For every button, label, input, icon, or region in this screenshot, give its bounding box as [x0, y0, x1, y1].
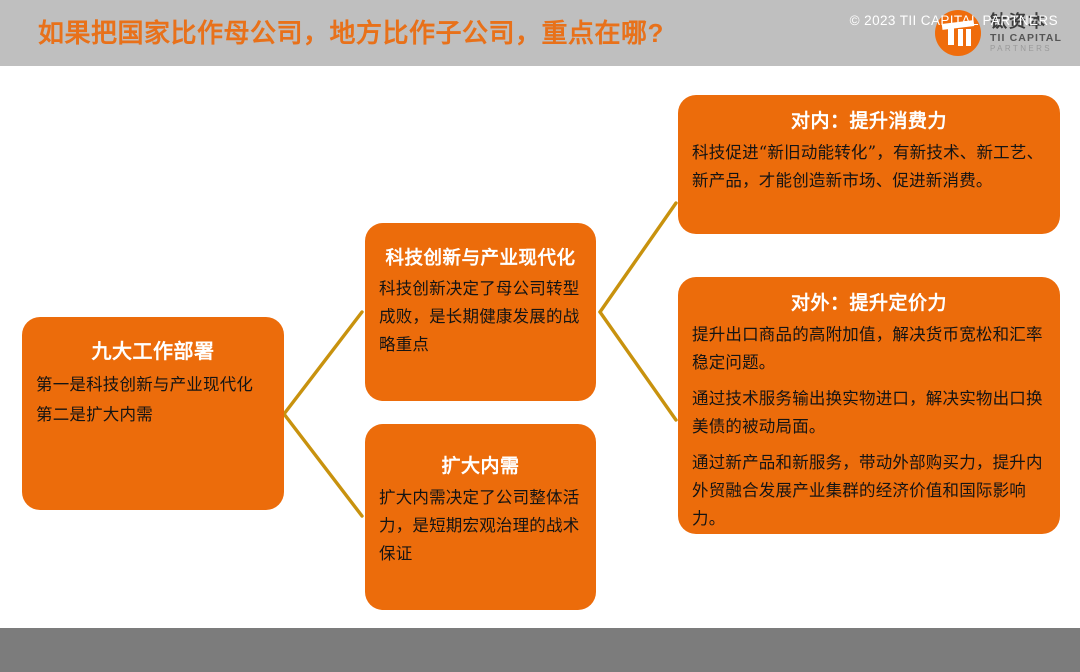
- node-internal-consumption-body: 科技促进“新旧动能转化”，有新技术、新工艺、新产品，才能创造新市场、促进新消费。: [692, 139, 1046, 195]
- node-internal-consumption-title: 对内：提升消费力: [692, 109, 1046, 135]
- node-expand-demand[interactable]: 扩大内需 扩大内需决定了公司整体活力，是短期宏观治理的战术保证: [365, 424, 596, 610]
- node-text-line: 科技创新决定了母公司转型成败，是长期健康发展的战略重点: [379, 275, 582, 359]
- node-text-line: 第二是扩大内需: [36, 401, 270, 429]
- node-text-line: 科技促进“新旧动能转化”，有新技术、新工艺、新产品，才能创造新市场、促进新消费。: [692, 139, 1046, 195]
- node-text-line: 提升出口商品的高附加值，解决货币宽松和汇率稳定问题。: [692, 321, 1046, 377]
- page-title: 如果把国家比作母公司，地方比作子公司，重点在哪?: [38, 12, 878, 54]
- edge-tech-innovation-to-external: [600, 312, 676, 420]
- node-tech-innovation[interactable]: 科技创新与产业现代化 科技创新决定了母公司转型成败，是长期健康发展的战略重点: [365, 223, 596, 401]
- node-external-pricing-body: 提升出口商品的高附加值，解决货币宽松和汇率稳定问题。 通过技术服务输出换实物进口…: [692, 321, 1046, 533]
- node-internal-consumption[interactable]: 对内：提升消费力 科技促进“新旧动能转化”，有新技术、新工艺、新产品，才能创造新…: [678, 95, 1060, 234]
- node-expand-demand-body: 扩大内需决定了公司整体活力，是短期宏观治理的战术保证: [379, 484, 582, 568]
- footer-bar: [0, 628, 1080, 672]
- node-nine-tasks[interactable]: 九大工作部署 第一是科技创新与产业现代化 第二是扩大内需: [22, 317, 284, 510]
- node-text-line: 通过新产品和新服务，带动外部购买力，提升内外贸融合发展产业集群的经济价值和国际影…: [692, 449, 1046, 533]
- brand-name-en: TII CAPITAL: [990, 33, 1062, 44]
- node-text-line: 通过技术服务输出换实物进口，解决实物出口换美债的被动局面。: [692, 385, 1046, 441]
- node-nine-tasks-body: 第一是科技创新与产业现代化 第二是扩大内需: [36, 371, 270, 429]
- copyright-text: © 2023 TII CAPITAL PARTNERS: [850, 13, 1058, 28]
- node-text-line: 扩大内需决定了公司整体活力，是短期宏观治理的战术保证: [379, 484, 582, 568]
- node-external-pricing[interactable]: 对外：提升定价力 提升出口商品的高附加值，解决货币宽松和汇率稳定问题。 通过技术…: [678, 277, 1060, 534]
- node-tech-innovation-body: 科技创新决定了母公司转型成败，是长期健康发展的战略重点: [379, 275, 582, 359]
- node-external-pricing-title: 对外：提升定价力: [692, 291, 1046, 317]
- brand-subname-en: PARTNERS: [990, 45, 1062, 53]
- edge-tech-innovation-to-internal: [600, 203, 676, 312]
- node-tech-innovation-title: 科技创新与产业现代化: [379, 245, 582, 271]
- edge-nine-tasks-to-tech-innovation: [284, 312, 362, 414]
- node-nine-tasks-title: 九大工作部署: [36, 339, 270, 365]
- node-expand-demand-title: 扩大内需: [379, 454, 582, 480]
- edge-nine-tasks-to-expand-demand: [284, 414, 362, 516]
- node-text-line: 第一是科技创新与产业现代化: [36, 371, 270, 399]
